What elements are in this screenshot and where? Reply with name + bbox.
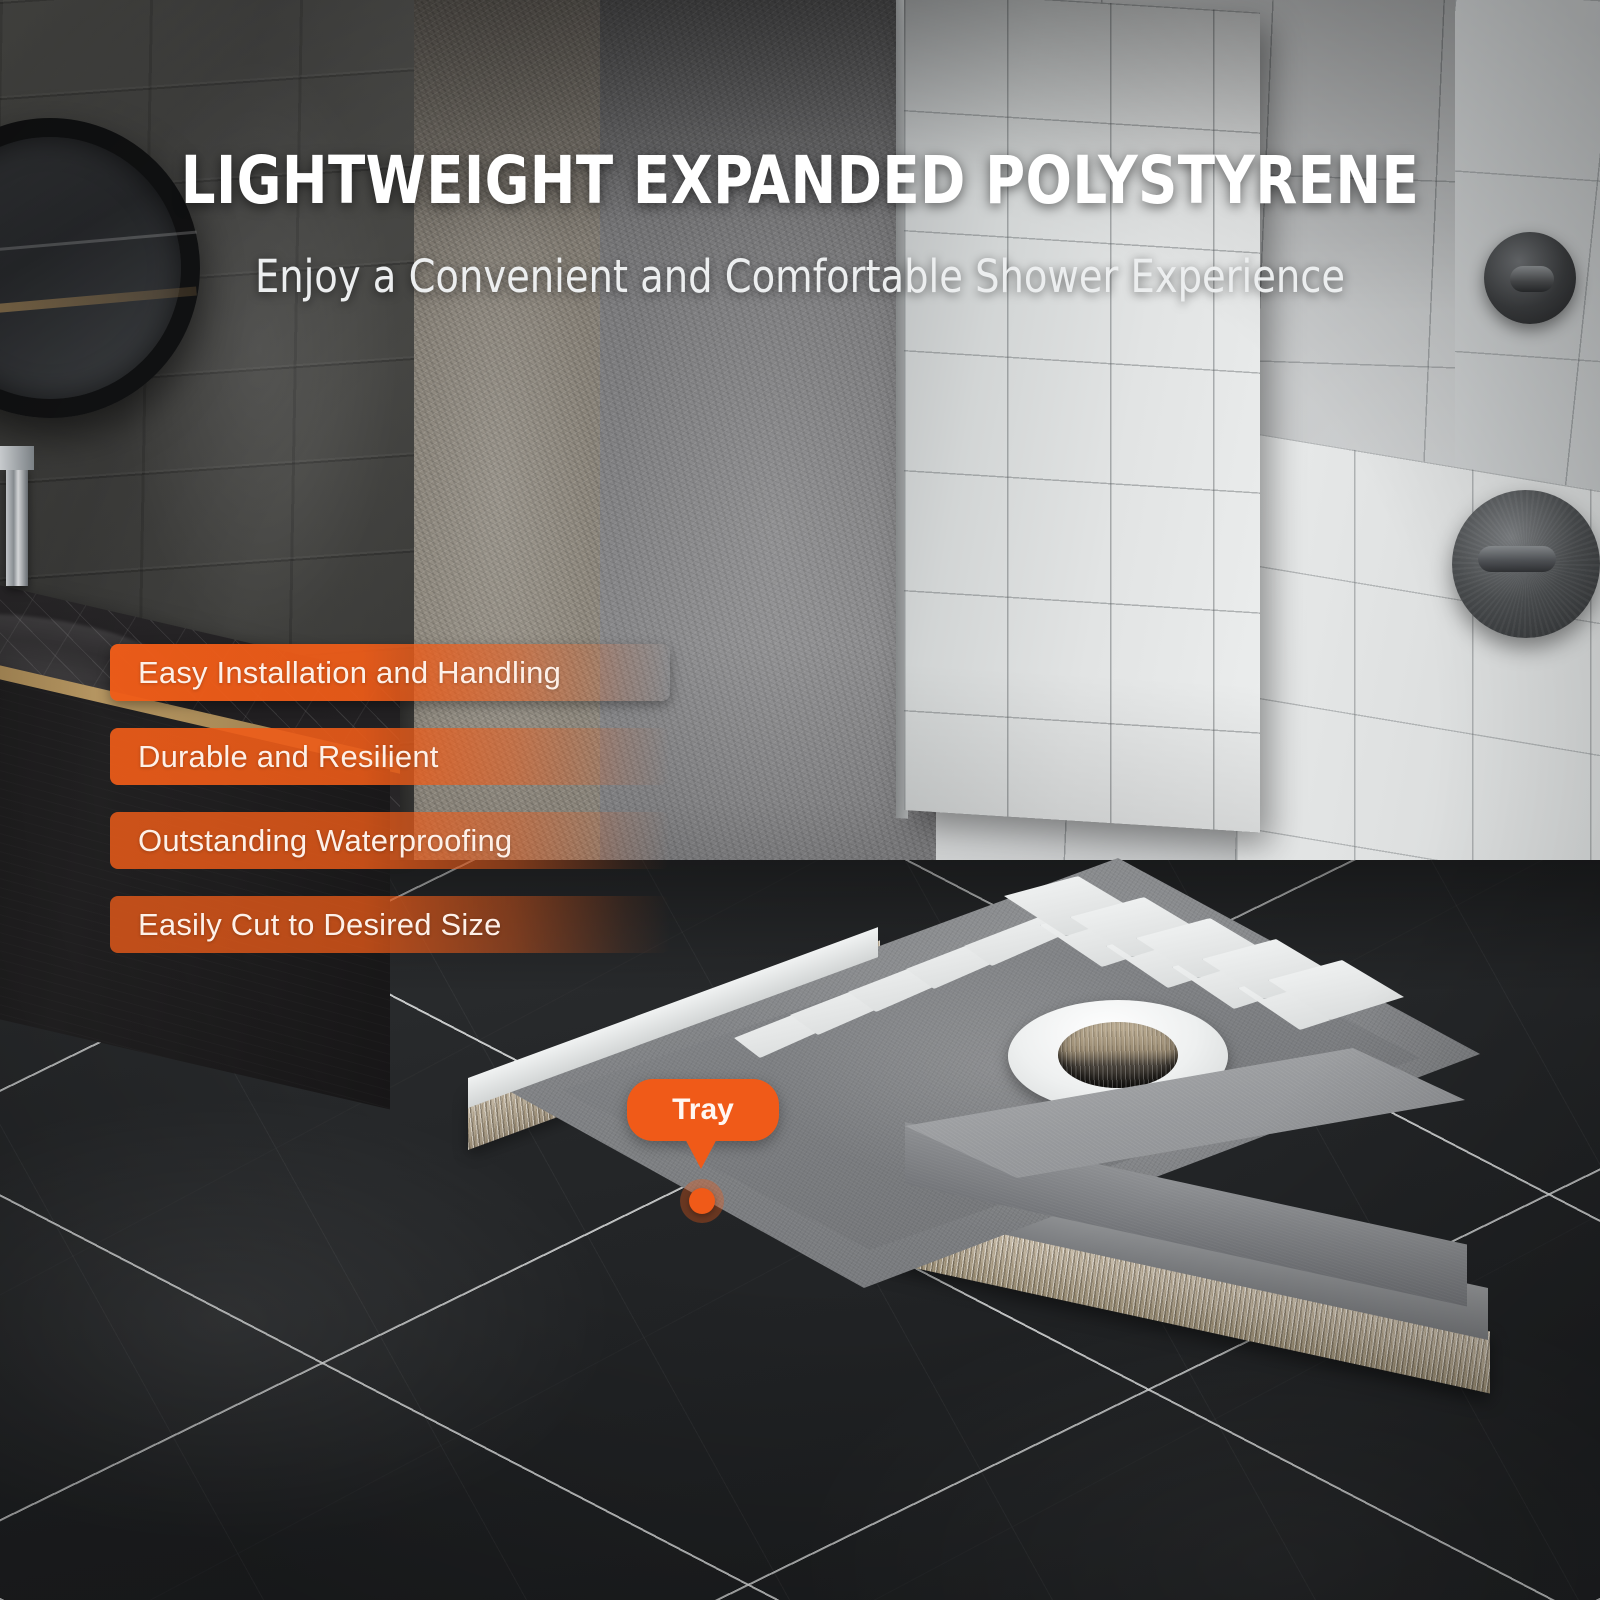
callout-bubble[interactable]: Tray <box>627 1079 779 1141</box>
callout-label: Tray <box>672 1093 734 1127</box>
feature-label: Outstanding Waterproofing <box>138 823 512 859</box>
foam-texture <box>1058 1022 1178 1088</box>
feature-pill-easily-cut[interactable]: Easily Cut to Desired Size <box>110 896 670 953</box>
drain-bore <box>1058 1022 1178 1088</box>
feature-label: Easy Installation and Handling <box>138 655 561 691</box>
feature-label: Easily Cut to Desired Size <box>138 907 502 943</box>
callout-dot-marker[interactable] <box>689 1188 715 1214</box>
page-subtitle: Enjoy a Convenient and Comfortable Showe… <box>40 250 1560 303</box>
tile-grid <box>904 0 1260 832</box>
feature-list: Easy Installation and Handling Durable a… <box>110 644 670 980</box>
feature-label: Durable and Resilient <box>138 739 439 775</box>
white-partition-panel <box>904 0 1260 832</box>
callout-tail <box>683 1135 719 1169</box>
page-title: LIGHTWEIGHT EXPANDED POLYSTYRENE <box>64 142 1536 219</box>
feature-pill-waterproofing[interactable]: Outstanding Waterproofing <box>110 812 670 869</box>
chrome-faucet-icon <box>6 466 28 586</box>
feature-pill-easy-installation[interactable]: Easy Installation and Handling <box>110 644 670 701</box>
feature-pill-durable[interactable]: Durable and Resilient <box>110 728 670 785</box>
valve-handle <box>1478 546 1556 572</box>
tray-callout[interactable]: Tray <box>627 1079 779 1141</box>
product-feature-banner: LIGHTWEIGHT EXPANDED POLYSTYRENE Enjoy a… <box>0 0 1600 1600</box>
shower-valve-icon <box>1452 490 1600 638</box>
